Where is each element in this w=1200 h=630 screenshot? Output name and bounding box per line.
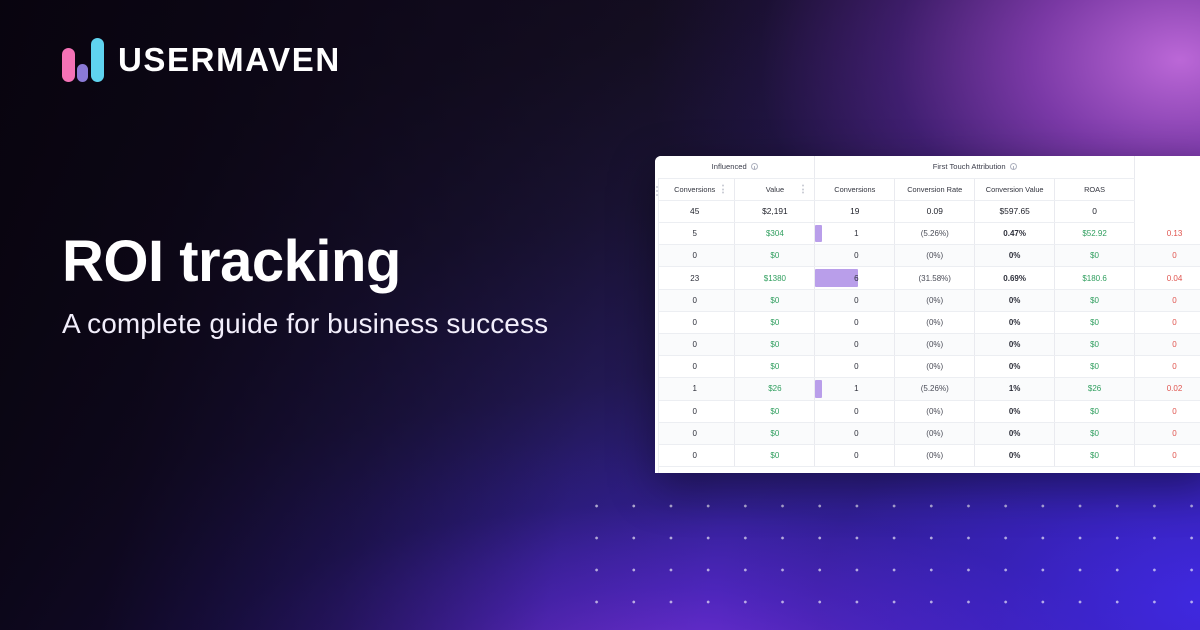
cell-conversion-value: $0 — [1055, 356, 1135, 378]
totals-ft-conversions: 19 — [815, 200, 895, 222]
cell-ft-conversions: 0 — [815, 356, 895, 378]
column-header-conversion-rate[interactable]: Conversion Rate — [895, 178, 975, 200]
totals-roas: 0 — [1055, 200, 1135, 222]
cell-conversion-value: $26 — [1055, 378, 1135, 400]
cell-roas: 0 — [1135, 400, 1200, 422]
page-subtitle: A complete guide for business success — [62, 308, 548, 340]
cell-conversion-rate: 0% — [975, 444, 1055, 466]
group-header-first-touch-label: First Touch Attribution — [933, 162, 1006, 171]
conversion-value-label: 0 — [851, 362, 858, 371]
cell-ft-conversions: 0 — [815, 289, 895, 311]
cell-influenced-value: $1380 — [735, 267, 815, 289]
column-label: ROAS — [1084, 185, 1105, 194]
cell-ft-percentage: (0%) — [895, 400, 975, 422]
cell-ft-conversions: 6 — [815, 267, 895, 289]
cell-influenced-value: $0 — [735, 444, 815, 466]
table-row[interactable]: 0$00(0%)0%$00 — [655, 444, 1200, 466]
conversion-value-label: 1 — [851, 384, 858, 393]
cell-influenced-conversions: 0 — [655, 334, 735, 356]
cell-ft-conversions: 0 — [815, 444, 895, 466]
info-icon[interactable] — [1010, 163, 1017, 170]
cell-conversion-rate: 0% — [975, 356, 1055, 378]
cell-ft-conversions: 0 — [815, 245, 895, 267]
cell-ft-percentage: (0%) — [895, 334, 975, 356]
cell-roas: 0.02 — [1135, 378, 1200, 400]
cell-ft-conversions: 0 — [815, 422, 895, 444]
attribution-table-panel: Influenced First Touch Attribution Conve… — [655, 156, 1200, 473]
conversion-value-label: 0 — [851, 340, 858, 349]
cell-conversion-rate: 0% — [975, 289, 1055, 311]
cell-influenced-value: $0 — [735, 334, 815, 356]
cell-conversion-value: $0 — [1055, 400, 1135, 422]
cell-ft-percentage: (31.58%) — [895, 267, 975, 289]
table-left-rail — [655, 178, 659, 473]
cell-ft-conversions: 0 — [815, 311, 895, 333]
column-label: Conversion Rate — [907, 185, 962, 194]
cell-influenced-conversions: 5 — [655, 223, 735, 245]
cell-ft-conversions: 0 — [815, 334, 895, 356]
brand-name: USERMAVEN — [118, 41, 341, 79]
table-totals-row: 45$2,191190.09$597.650 — [655, 200, 1200, 222]
totals-influenced-conversions: 45 — [655, 200, 735, 222]
conversion-value-label: 0 — [851, 429, 858, 438]
cell-conversion-value: $0 — [1055, 422, 1135, 444]
table-body: 45$2,191190.09$597.6505$3041(5.26%)0.47%… — [655, 200, 1200, 466]
sort-icon[interactable] — [800, 185, 806, 194]
cell-ft-percentage: (5.26%) — [895, 378, 975, 400]
cell-ft-conversions: 0 — [815, 400, 895, 422]
cell-roas: 0 — [1135, 444, 1200, 466]
logo-bar-purple-icon — [77, 64, 88, 82]
cell-roas: 0 — [1135, 311, 1200, 333]
cell-influenced-conversions: 0 — [655, 289, 735, 311]
cell-influenced-value: $0 — [735, 422, 815, 444]
info-icon[interactable] — [751, 163, 758, 170]
cell-roas: 0 — [1135, 289, 1200, 311]
cell-ft-percentage: (0%) — [895, 356, 975, 378]
brand-logo: USERMAVEN — [62, 38, 341, 82]
table-row[interactable]: 23$13806(31.58%)0.69%$180.60.04 — [655, 267, 1200, 289]
cell-roas: 0 — [1135, 356, 1200, 378]
usermaven-bars-icon — [62, 38, 104, 82]
conversion-value-label: 0 — [851, 318, 858, 327]
table-row[interactable]: 0$00(0%)0%$00 — [655, 289, 1200, 311]
cell-ft-percentage: (5.26%) — [895, 223, 975, 245]
attribution-table: Influenced First Touch Attribution Conve… — [655, 156, 1200, 467]
cell-ft-percentage: (0%) — [895, 422, 975, 444]
sort-icon[interactable] — [720, 185, 726, 194]
column-label: Conversions — [674, 185, 715, 194]
column-header-ft-conversions[interactable]: Conversions — [815, 178, 895, 200]
cell-influenced-value: $0 — [735, 356, 815, 378]
cell-conversion-value: $0 — [1055, 311, 1135, 333]
table-row[interactable]: 0$00(0%)0%$00 — [655, 334, 1200, 356]
table-row[interactable]: 0$00(0%)0%$00 — [655, 400, 1200, 422]
page-title: ROI tracking — [62, 232, 401, 293]
column-header-influenced-conversions[interactable]: Conversions — [655, 178, 735, 200]
cell-ft-percentage: (0%) — [895, 444, 975, 466]
logo-bar-pink-icon — [62, 48, 75, 82]
cell-conversion-rate: 0% — [975, 422, 1055, 444]
cell-influenced-conversions: 23 — [655, 267, 735, 289]
group-header-influenced-label: Influenced — [712, 162, 747, 171]
group-header-influenced: Influenced — [655, 156, 815, 178]
column-header-conversion-value[interactable]: Conversion Value — [975, 178, 1055, 200]
cell-ft-percentage: (0%) — [895, 289, 975, 311]
cell-ft-conversions: 1 — [815, 378, 895, 400]
cell-influenced-conversions: 0 — [655, 311, 735, 333]
conversion-value-label: 1 — [851, 229, 858, 238]
cell-roas: 0 — [1135, 334, 1200, 356]
cell-influenced-conversions: 0 — [655, 356, 735, 378]
table-row[interactable]: 0$00(0%)0%$00 — [655, 422, 1200, 444]
cell-conversion-rate: 0% — [975, 245, 1055, 267]
table-row[interactable]: 5$3041(5.26%)0.47%$52.920.13 — [655, 223, 1200, 245]
column-label: Conversions — [834, 185, 875, 194]
cell-influenced-value: $0 — [735, 245, 815, 267]
cell-roas: 0.04 — [1135, 267, 1200, 289]
conversion-value-label: 0 — [851, 251, 858, 260]
conversion-value-label: 0 — [851, 407, 858, 416]
conversion-value-label: 6 — [851, 274, 858, 283]
cell-influenced-conversions: 1 — [655, 378, 735, 400]
table-group-header-row: Influenced First Touch Attribution — [655, 156, 1200, 178]
conversion-value-label: 0 — [851, 296, 858, 305]
cell-influenced-conversions: 0 — [655, 400, 735, 422]
logo-bar-cyan-icon — [91, 38, 104, 82]
cell-roas: 0.13 — [1135, 223, 1200, 245]
totals-influenced-value: $2,191 — [735, 200, 815, 222]
conversion-bar — [815, 225, 822, 242]
column-header-influenced-value[interactable]: Value — [735, 178, 815, 200]
cell-roas: 0 — [1135, 422, 1200, 444]
cell-influenced-value: $304 — [735, 223, 815, 245]
cell-ft-conversions: 1 — [815, 223, 895, 245]
conversion-value-label: 0 — [851, 451, 858, 460]
table-row[interactable]: 0$00(0%)0%$00 — [655, 311, 1200, 333]
cell-conversion-rate: 0% — [975, 400, 1055, 422]
cell-conversion-value: $0 — [1055, 334, 1135, 356]
column-label: Conversion Value — [986, 185, 1044, 194]
cell-influenced-value: $0 — [735, 311, 815, 333]
cell-conversion-value: $0 — [1055, 444, 1135, 466]
cell-conversion-rate: 0% — [975, 334, 1055, 356]
cell-roas: 0 — [1135, 245, 1200, 267]
table-row[interactable]: 0$00(0%)0%$00 — [655, 356, 1200, 378]
column-header-roas[interactable]: ROAS — [1055, 178, 1135, 200]
group-header-first-touch: First Touch Attribution — [815, 156, 1135, 178]
cell-conversion-value: $0 — [1055, 245, 1135, 267]
column-label: Value — [766, 185, 784, 194]
cell-influenced-value: $0 — [735, 400, 815, 422]
cell-ft-percentage: (0%) — [895, 245, 975, 267]
cell-conversion-rate: 1% — [975, 378, 1055, 400]
cell-conversion-rate: 0.69% — [975, 267, 1055, 289]
table-row[interactable]: 0$00(0%)0%$00 — [655, 245, 1200, 267]
cell-conversion-rate: 0% — [975, 311, 1055, 333]
cell-conversion-value: $180.6 — [1055, 267, 1135, 289]
cell-influenced-value: $26 — [735, 378, 815, 400]
totals-conversion-value: $597.65 — [975, 200, 1055, 222]
cell-influenced-value: $0 — [735, 289, 815, 311]
cell-conversion-value: $52.92 — [1055, 223, 1135, 245]
conversion-bar — [815, 380, 822, 397]
cell-conversion-rate: 0.47% — [975, 223, 1055, 245]
cell-conversion-value: $0 — [1055, 289, 1135, 311]
dot-grid-pattern — [572, 482, 1200, 630]
cell-influenced-conversions: 0 — [655, 422, 735, 444]
cell-ft-percentage: (0%) — [895, 311, 975, 333]
cell-influenced-conversions: 0 — [655, 444, 735, 466]
totals-conversion-rate: 0.09 — [895, 200, 975, 222]
cell-influenced-conversions: 0 — [655, 245, 735, 267]
table-column-header-row: Conversions Value Conversions Conversion… — [655, 178, 1200, 200]
table-row[interactable]: 1$261(5.26%)1%$260.02 — [655, 378, 1200, 400]
